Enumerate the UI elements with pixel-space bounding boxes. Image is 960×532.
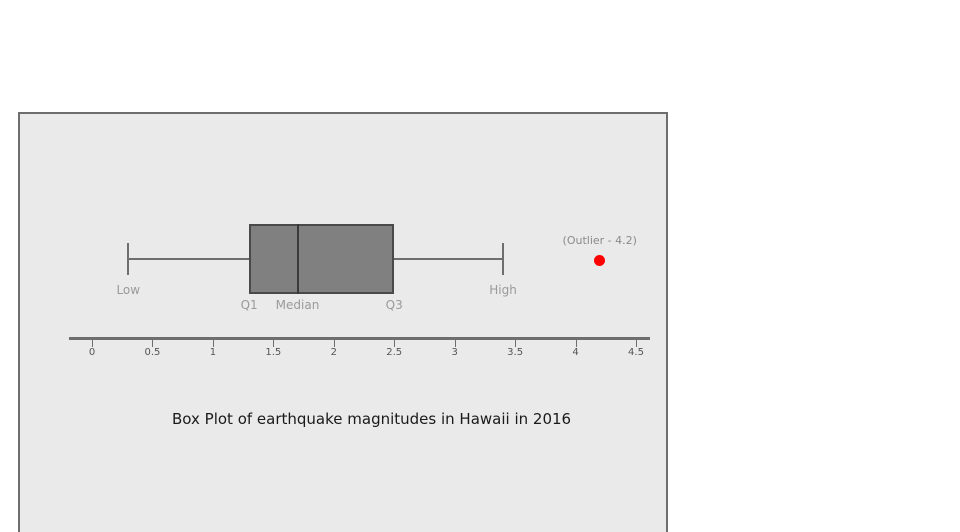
median-line — [297, 224, 299, 294]
x-axis-tick-label: 4.5 — [628, 347, 644, 358]
x-axis-tick — [213, 340, 214, 347]
chart-title: Box Plot of earthquake magnitudes in Haw… — [172, 410, 571, 428]
outlier-point — [594, 255, 605, 266]
x-axis-tick — [394, 340, 395, 347]
x-axis-tick-label: 3 — [451, 347, 457, 358]
whisker-line-low — [128, 258, 249, 260]
boxplot-label-high: High — [489, 283, 517, 297]
x-axis-tick-label: 1 — [210, 347, 216, 358]
x-axis-tick — [455, 340, 456, 347]
boxplot-label-q3: Q3 — [386, 298, 403, 312]
whisker-line-high — [394, 258, 503, 260]
boxplot-label-median: Median — [276, 298, 320, 312]
x-axis-tick — [515, 340, 516, 347]
x-axis-tick-label: 3.5 — [507, 347, 523, 358]
box-rect — [249, 224, 394, 294]
x-axis-tick — [334, 340, 335, 347]
boxplot-label-q1: Q1 — [241, 298, 258, 312]
whisker-cap-high — [502, 243, 504, 275]
x-axis-tick-label: 1.5 — [265, 347, 281, 358]
x-axis-tick-label: 0 — [89, 347, 95, 358]
chart-panel: Low Q1 Median Q3 High (Outlier - 4.2) 00… — [18, 112, 668, 532]
boxplot-plot-area: Low Q1 Median Q3 High (Outlier - 4.2) 00… — [20, 114, 666, 532]
x-axis-line — [69, 337, 650, 340]
x-axis-tick — [273, 340, 274, 347]
x-axis-tick — [92, 340, 93, 347]
x-axis-tick — [636, 340, 637, 347]
outlier-label: (Outlier - 4.2) — [563, 234, 637, 247]
x-axis-tick-label: 0.5 — [144, 347, 160, 358]
x-axis-tick-label: 4 — [572, 347, 578, 358]
x-axis-tick-label: 2 — [331, 347, 337, 358]
x-axis-tick — [576, 340, 577, 347]
x-axis-tick — [152, 340, 153, 347]
x-axis-tick-label: 2.5 — [386, 347, 402, 358]
boxplot-label-low: Low — [116, 283, 140, 297]
